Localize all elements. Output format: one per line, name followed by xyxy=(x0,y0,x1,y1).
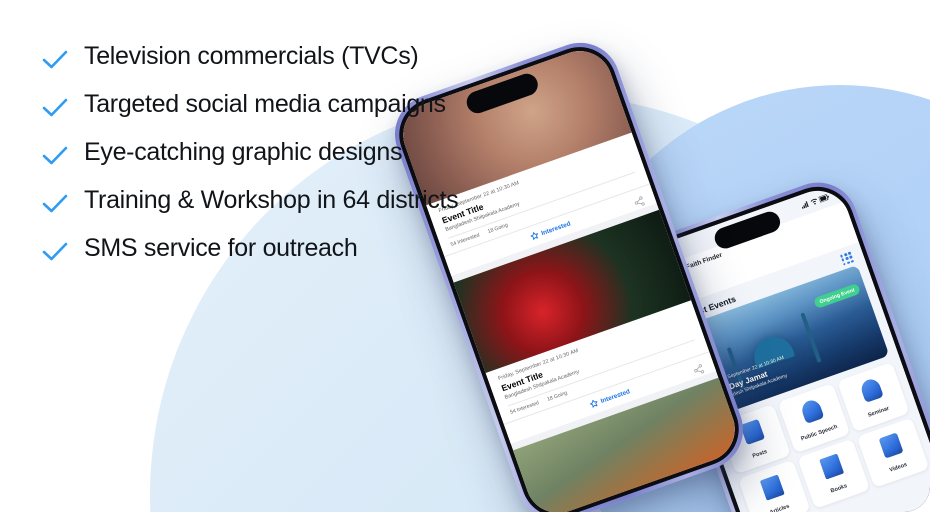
benefit-label: Eye-catching graphic designs xyxy=(84,136,402,169)
books-icon xyxy=(802,446,861,487)
list-item: Targeted social media campaigns xyxy=(40,88,480,123)
seminar-icon xyxy=(841,369,900,410)
tile-label: Books xyxy=(830,483,848,494)
minaret-shape xyxy=(800,312,821,362)
star-icon xyxy=(530,231,540,241)
videos-icon xyxy=(861,425,920,466)
benefit-label: SMS service for outreach xyxy=(84,232,357,265)
interested-button[interactable]: Interested xyxy=(589,387,631,408)
status-icons xyxy=(800,193,829,208)
benefits-list: Television commercials (TVCs) Targeted s… xyxy=(40,40,480,280)
share-icon[interactable] xyxy=(691,361,706,381)
list-item: Training & Workshop in 64 districts xyxy=(40,184,480,219)
going-count: 18 Going xyxy=(546,390,568,403)
interested-label: Interested xyxy=(600,388,631,405)
benefit-label: Training & Workshop in 64 districts xyxy=(84,184,458,217)
list-item: Television commercials (TVCs) xyxy=(40,40,480,75)
list-item: Eye-catching graphic designs xyxy=(40,136,480,171)
benefit-label: Television commercials (TVCs) xyxy=(84,40,418,73)
check-icon xyxy=(40,93,70,123)
battery-icon xyxy=(818,193,829,202)
tile-label: Articles xyxy=(769,504,790,512)
interested-label: Interested xyxy=(540,220,571,237)
tile-label: Videos xyxy=(889,462,908,474)
cellular-icon xyxy=(800,201,809,209)
check-icon xyxy=(40,237,70,267)
star-icon xyxy=(589,398,599,408)
check-icon xyxy=(40,45,70,75)
list-item: SMS service for outreach xyxy=(40,232,480,267)
tile-label: Posts xyxy=(752,449,768,460)
promo-card: Television commercials (TVCs) Targeted s… xyxy=(0,0,930,512)
check-icon xyxy=(40,189,70,219)
articles-icon xyxy=(742,467,801,508)
post-title: Event Title xyxy=(567,508,743,512)
grid-icon[interactable] xyxy=(840,251,854,265)
check-icon xyxy=(40,141,70,171)
wifi-icon xyxy=(809,197,818,205)
status-badge: Ongoing Event xyxy=(813,283,861,309)
interested-button[interactable]: Interested xyxy=(530,219,572,240)
tile-books[interactable]: Books xyxy=(797,439,870,509)
tile-label: Seminar xyxy=(867,406,890,419)
benefit-label: Targeted social media campaigns xyxy=(84,88,446,121)
share-icon[interactable] xyxy=(632,193,647,213)
tile-videos[interactable]: Videos xyxy=(857,418,930,488)
tile-label: Public Speech xyxy=(800,424,838,442)
